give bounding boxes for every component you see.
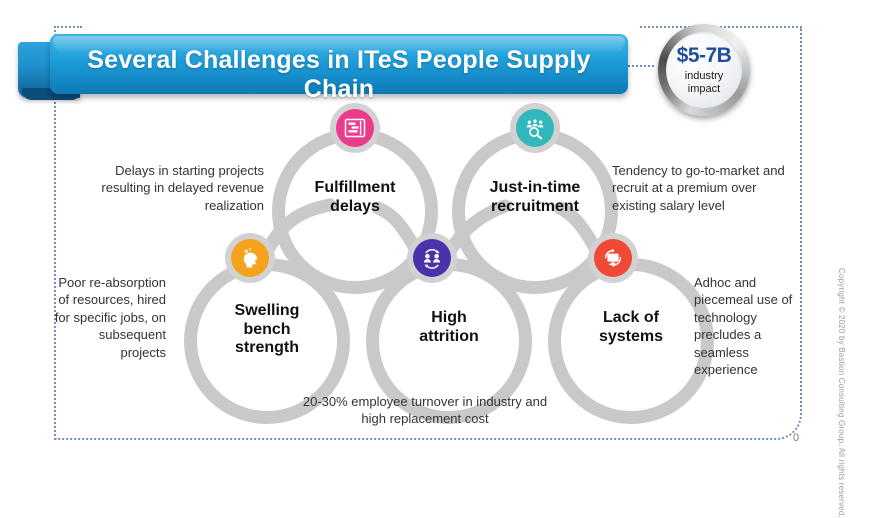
callout-bottom-right: Adhoc and piecemeal use of technology pr… [694,274,798,378]
callout-top-right: Tendency to go-to-market and recruit at … [612,162,798,214]
people-search-icon [516,109,554,147]
bench-label-line3: strength [235,339,299,356]
page-number: 0 [793,432,799,444]
monitor-refresh-icon [594,239,632,277]
fulfillment-label-line2: delays [330,198,380,215]
recruitment-label-line2: recruitment [491,198,579,215]
attrition-label-line2: attrition [419,328,479,345]
attrition-label-line1: High [431,309,467,326]
node-label-swelling-bench-strength: Swelling bench strength [190,290,344,370]
head-gears-icon [231,239,269,277]
bench-label-line1: Swelling [235,302,300,319]
systems-label-line2: systems [599,328,663,345]
recruitment-label-line1: Just-in-time [490,179,581,196]
node-label-high-attrition: High attrition [372,298,526,358]
fulfillment-label-line1: Fulfillment [315,179,396,196]
node-label-fulfillment-delays: Fulfillment delays [282,168,428,228]
node-label-lack-of-systems: Lack of systems [554,298,708,358]
copyright-notice: Copyright © 2020 by Bastion Consulting G… [837,268,846,518]
callout-bottom-center: 20-30% employee turnover in industry and… [300,393,550,428]
gantt-chart-icon [336,109,374,147]
callout-top-left: Delays in starting projects resulting in… [92,162,264,214]
systems-label-line1: Lack of [603,309,659,326]
slide-canvas: Several Challenges in ITeS People Supply… [0,0,870,470]
people-cycle-icon [413,239,451,277]
bench-label-line2: bench [243,321,290,338]
callout-bottom-left: Poor re-absorption of resources, hired f… [50,274,166,361]
node-label-just-in-time-recruitment: Just-in-time recruitment [458,168,612,228]
